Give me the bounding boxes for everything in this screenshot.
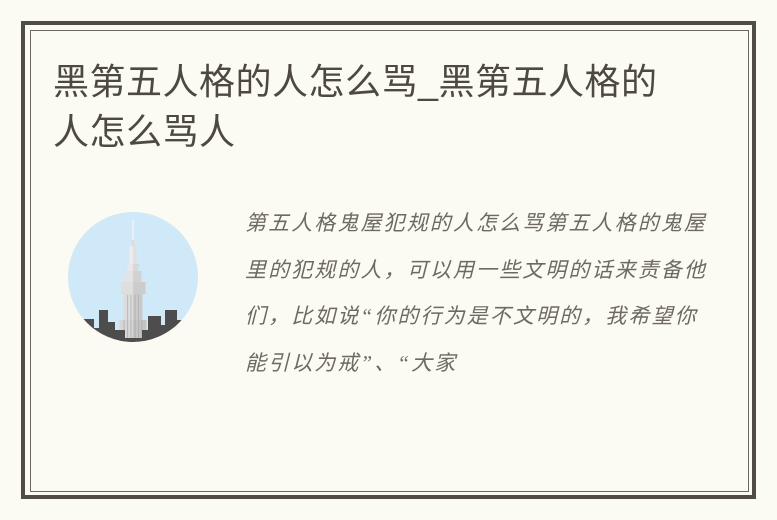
article-body: 第五人格鬼屋犯规的人怎么骂第五人格的鬼屋里的犯规的人，可以用一些文明的话来责备他… [30,200,749,492]
article-excerpt: 第五人格鬼屋犯规的人怎么骂第五人格的鬼屋里的犯规的人，可以用一些文明的话来责备他… [245,200,715,386]
empire-state-building-icon [68,212,198,342]
article-thumbnail[interactable] [68,212,198,342]
page-title: 黑第五人格的人怎么骂_黑第五人格的人怎么骂人 [53,57,693,157]
article-page: 黑第五人格的人怎么骂_黑第五人格的人怎么骂人 [0,0,777,520]
article-content: 黑第五人格的人怎么骂_黑第五人格的人怎么骂人 [30,30,749,492]
